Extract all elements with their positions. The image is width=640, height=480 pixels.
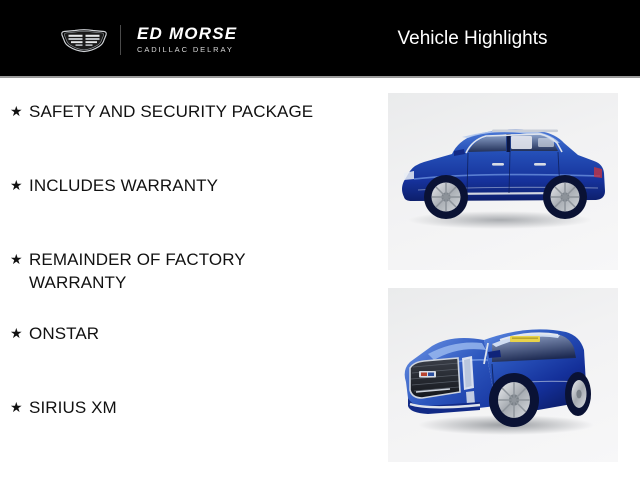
list-item: ★ REMAINDER OF FACTORY WARRANTY: [0, 248, 370, 322]
vehicle-photo-side-profile: [388, 93, 618, 270]
brand-name: ED MORSE: [137, 25, 237, 42]
highlight-label: ONSTAR: [29, 322, 99, 345]
vehicle-highlights-list: ★ SAFETY AND SECURITY PACKAGE ★ INCLUDES…: [0, 100, 370, 470]
star-bullet-icon: ★: [10, 100, 29, 123]
header-bar: ED MORSE CADILLAC DELRAY Vehicle Highlig…: [0, 0, 640, 76]
list-item: ★ SIRIUS XM: [0, 396, 370, 470]
list-item: ★ SAFETY AND SECURITY PACKAGE: [0, 100, 370, 174]
star-bullet-icon: ★: [10, 322, 29, 345]
star-bullet-icon: ★: [10, 396, 29, 419]
highlight-label: INCLUDES WARRANTY: [29, 174, 218, 197]
page-title: Vehicle Highlights: [330, 28, 615, 50]
list-item: ★ INCLUDES WARRANTY: [0, 174, 370, 248]
highlight-label: SAFETY AND SECURITY PACKAGE: [29, 100, 313, 123]
star-bullet-icon: ★: [10, 248, 29, 271]
highlight-label: REMAINDER OF FACTORY WARRANTY: [29, 248, 339, 294]
highlight-label: SIRIUS XM: [29, 396, 117, 419]
brand-wordmark: ED MORSE CADILLAC DELRAY: [137, 25, 237, 56]
star-bullet-icon: ★: [10, 174, 29, 197]
cadillac-crest-icon: [60, 27, 108, 53]
header-divider-rule: [0, 76, 640, 78]
list-item: ★ ONSTAR: [0, 322, 370, 396]
brand-divider: [120, 25, 121, 55]
brand-lockup: ED MORSE CADILLAC DELRAY: [60, 22, 237, 58]
brand-subtitle: CADILLAC DELRAY: [137, 44, 237, 56]
vehicle-photo-front-quarter: [388, 288, 618, 462]
